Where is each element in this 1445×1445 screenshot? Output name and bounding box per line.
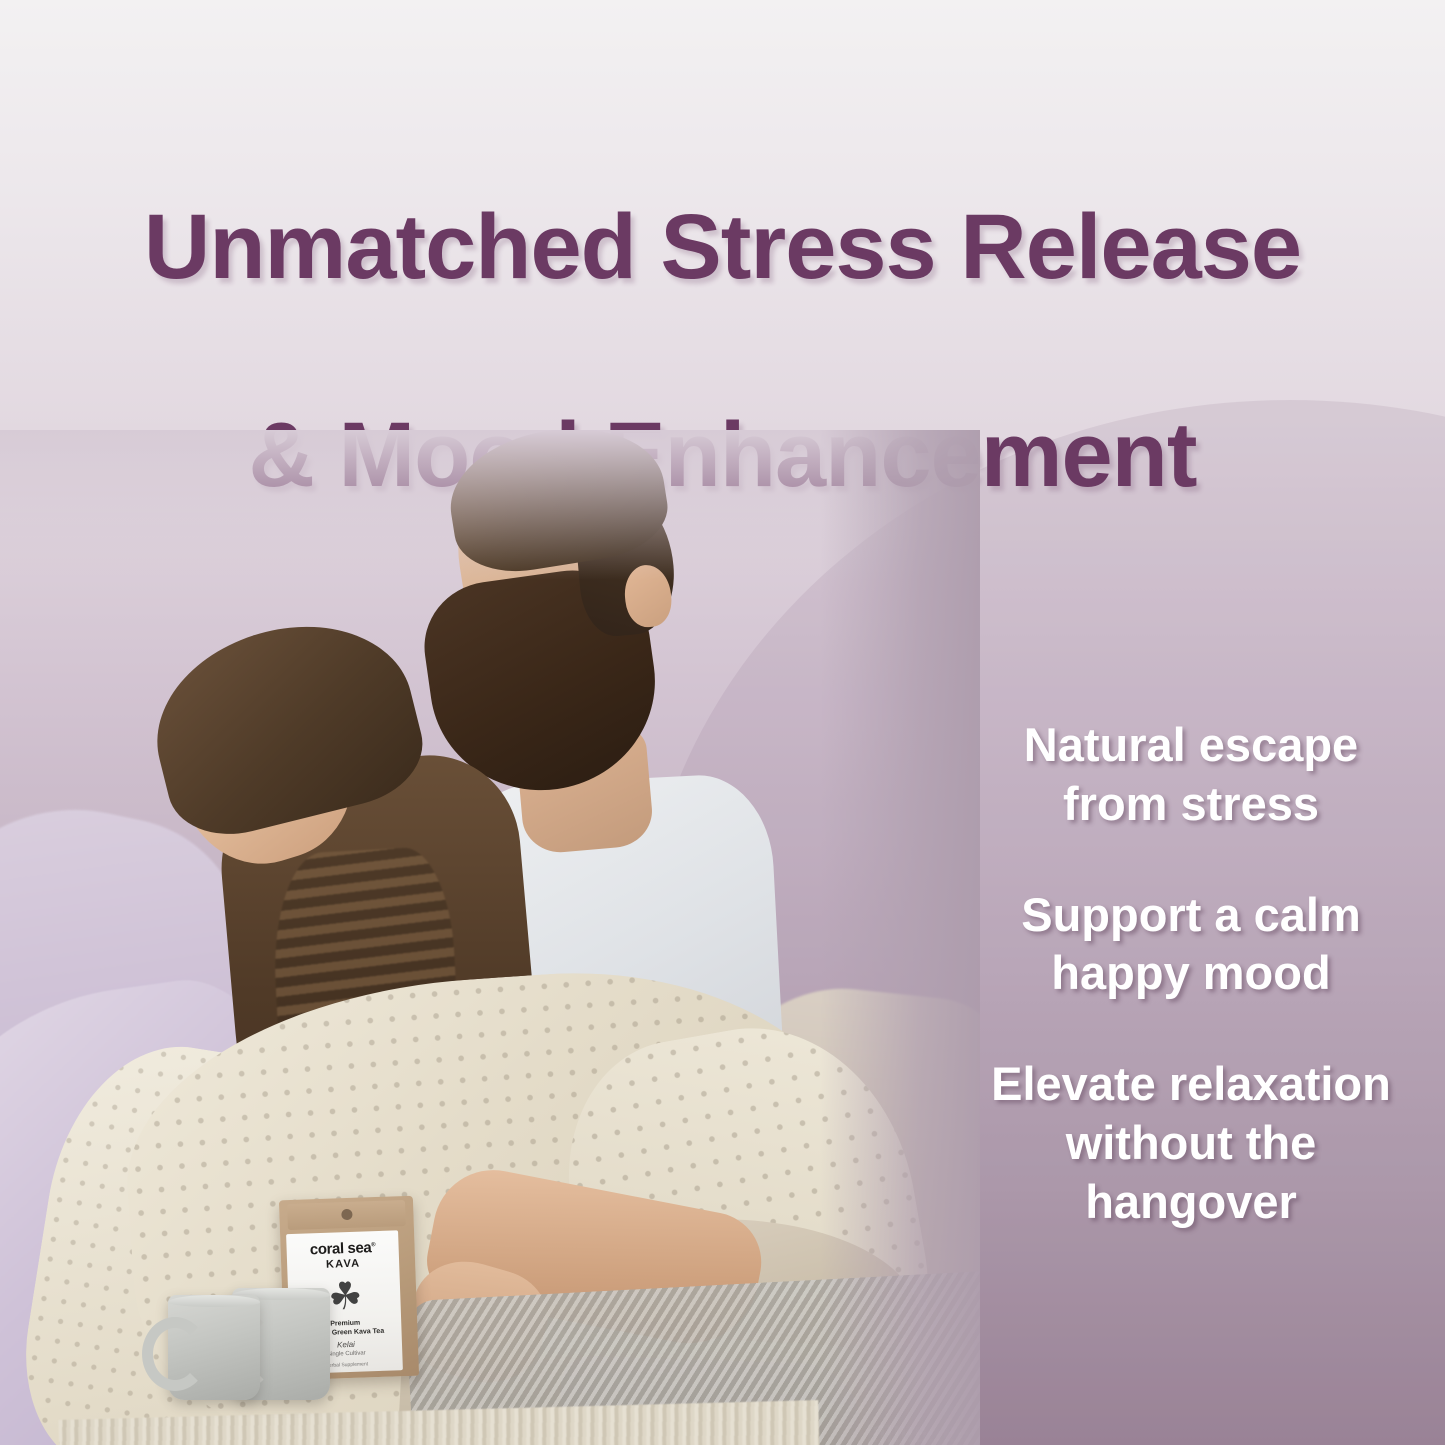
- benefit-item-2: Support a calmhappy mood: [948, 886, 1434, 1004]
- mug-rim: [168, 1295, 260, 1307]
- benefit-item-1: Natural escapefrom stress: [948, 716, 1434, 834]
- registered-trademark-icon: ®: [371, 1242, 375, 1248]
- ceramic-mug-front: [168, 1295, 260, 1400]
- kava-plant-icon: ☘: [324, 1275, 367, 1318]
- benefit-item-3: Elevate relaxationwithout thehangover: [948, 1055, 1434, 1231]
- product-line-name: KAVA: [287, 1256, 399, 1272]
- product-benefit-ad: Unmatched Stress Release & Mood Enhancem…: [0, 0, 1445, 1445]
- brand-name-text: coral sea: [310, 1239, 372, 1258]
- benefit-list: Natural escapefrom stress Support a calm…: [948, 716, 1434, 1231]
- lifestyle-photo: [0, 430, 980, 1445]
- mug-handle: [142, 1317, 208, 1391]
- headline-line-1: Unmatched Stress Release: [0, 196, 1445, 300]
